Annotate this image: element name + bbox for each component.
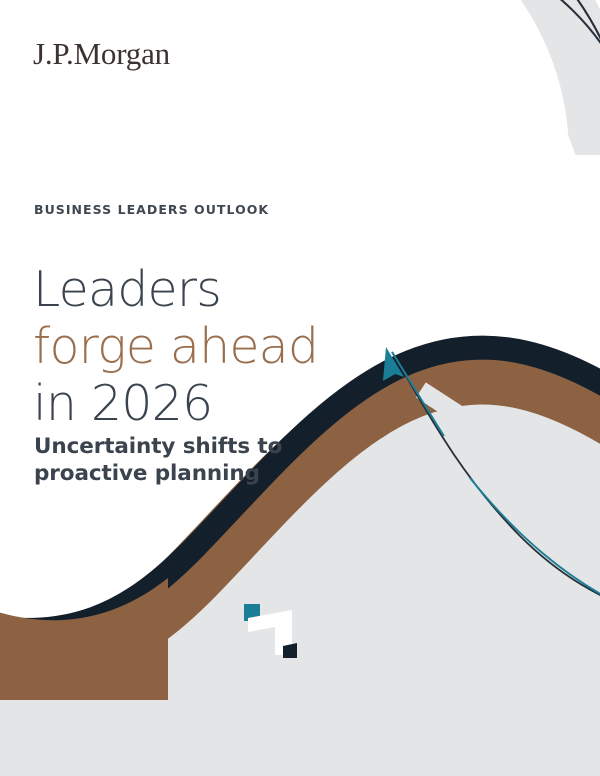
navy-left-taper	[0, 578, 168, 700]
subtitle-line-2: proactive planning	[34, 460, 364, 487]
headline-line-3: in 2026	[33, 375, 453, 432]
document-cover: J.P.Morgan BUSINESS LEADERS OUTLOOK Lead…	[0, 0, 600, 776]
page-title: Leaders forge ahead in 2026	[33, 261, 453, 432]
headline-line-1: Leaders	[33, 261, 453, 318]
page-subtitle: Uncertainty shifts to proactive planning	[34, 433, 364, 487]
top-right-arc-motif	[296, 0, 600, 190]
subtitle-line-1: Uncertainty shifts to	[34, 433, 364, 460]
headline-line-2: forge ahead	[33, 318, 453, 375]
series-eyebrow: BUSINESS LEADERS OUTLOOK	[34, 202, 269, 217]
jpmorgan-logo: J.P.Morgan	[33, 38, 170, 69]
gray-arc-band	[296, 0, 600, 155]
